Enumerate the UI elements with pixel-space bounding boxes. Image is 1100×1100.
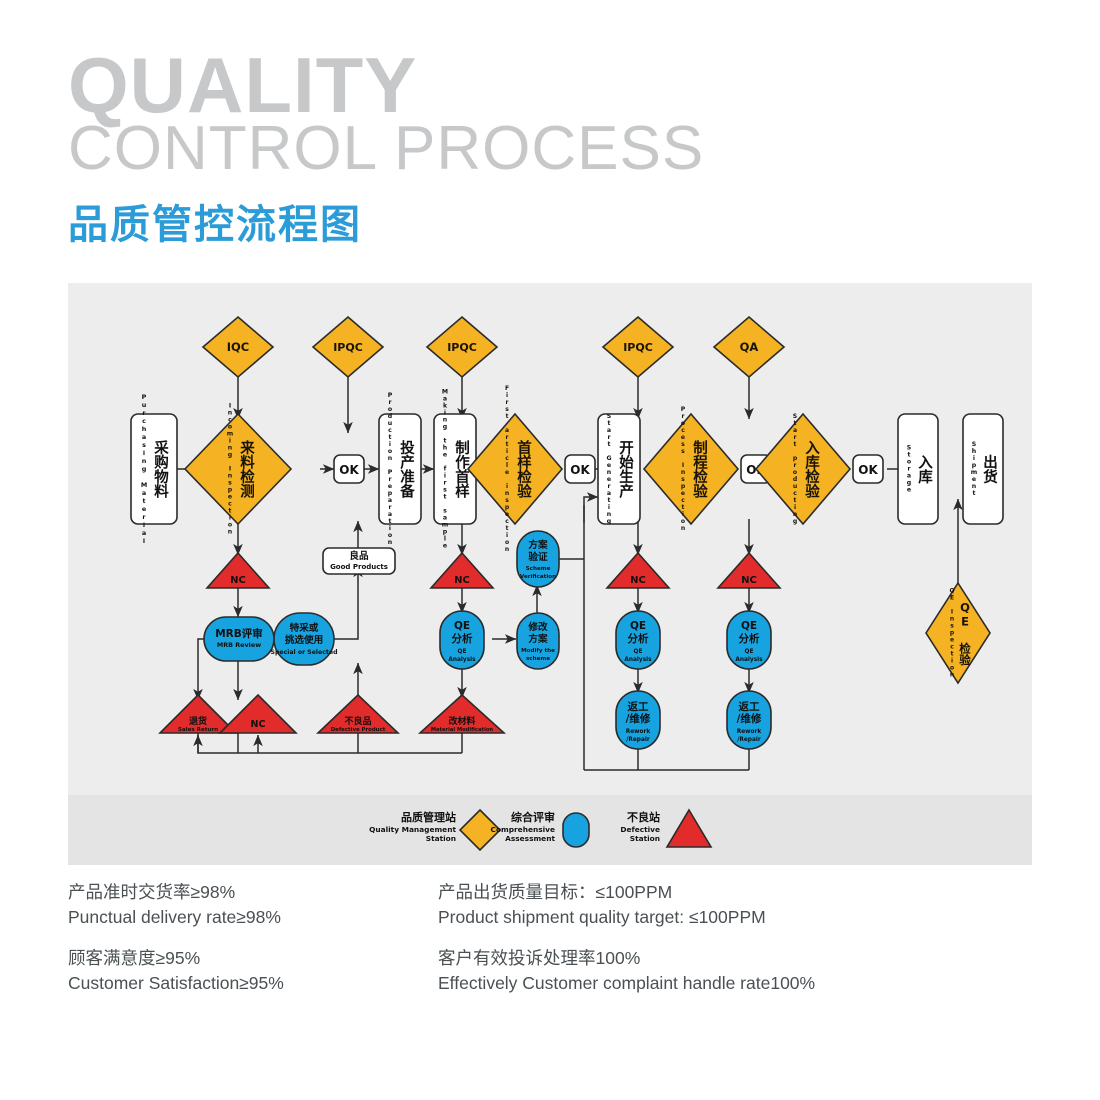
node-sales-return-en: Sales Return — [178, 727, 218, 733]
page-title: QUALITY — [68, 48, 704, 122]
node-qe-analysis-1-cn: 分析 — [452, 632, 473, 645]
node-rework-repair-2[interactable]: 返工 /维修 Rework /Repair — [727, 691, 771, 749]
node-first-article-inspection-en: First article inspection — [504, 385, 511, 553]
node-shipment-cn: 出货 — [981, 453, 997, 485]
legend-triangle-icon — [667, 810, 711, 847]
node-rework-repair-1-cn-2: /维修 — [626, 712, 651, 725]
goal-complaint-handling: 客户有效投诉处理率100% Effectively Customer compl… — [438, 946, 815, 997]
goal-punctual-delivery: 产品准时交货率≥98% Punctual delivery rate≥98% — [68, 880, 281, 931]
station-ipqc-1[interactable]: IPQC — [313, 317, 383, 377]
goal-punctual-delivery-cn: 产品准时交货率≥98% — [68, 880, 281, 905]
node-special-or-selected-cn-1: 特采或 — [290, 622, 319, 634]
node-qe-analysis-1[interactable]: QE 分析 QE Analysis — [440, 611, 484, 669]
node-qe-analysis-1-en-2: Analysis — [448, 657, 476, 663]
node-nc-warehouse-label: NC — [741, 575, 757, 586]
poster-root: QUALITY CONTROL PROCESS 品质管控流程图 — [0, 0, 1100, 1100]
node-storage[interactable]: 入库 Storage — [898, 414, 938, 524]
goal-customer-satisfaction: 顾客满意度≥95% Customer Satisfaction≥95% — [68, 946, 284, 997]
node-modify-the-scheme[interactable]: 修改 方案 Modify the scheme — [517, 613, 559, 669]
node-purchasing-material[interactable]: 采购物料 Purchasing Material — [131, 393, 177, 545]
node-scheme-verification[interactable]: 方案 验证 Scheme Verification — [517, 531, 559, 587]
node-rework-repair-1-cn-1: 返工 — [628, 700, 649, 713]
node-rework-repair-1-en-2: /Repair — [626, 737, 650, 743]
node-mrb-review-en: MRB Review — [217, 641, 261, 649]
node-purchasing-material-en: Purchasing Material — [140, 393, 148, 545]
node-defective-product[interactable]: 不良品 Defective Product — [318, 695, 398, 733]
station-iqc[interactable]: IQC — [203, 317, 273, 377]
node-good-products-cn: 良品 — [349, 550, 369, 562]
node-defective-product-cn: 不良品 — [344, 715, 371, 727]
node-special-or-selected[interactable]: 特采或 挑选使用 Special or Selected — [271, 613, 338, 665]
node-qe-analysis-1-en-1: QE — [458, 649, 467, 655]
node-good-products-en: Good Products — [330, 563, 388, 571]
node-mrb-review-cn: MRB评审 — [215, 627, 263, 640]
node-storage-en: Storage — [906, 445, 913, 494]
legend-comprehensive-assessment-en-1: Comprehensive — [491, 825, 555, 834]
node-qe-analysis-3-title: QE — [741, 620, 757, 632]
node-special-or-selected-cn-2: 挑选使用 — [285, 634, 323, 646]
poster-header: QUALITY CONTROL PROCESS 品质管控流程图 — [68, 48, 704, 250]
node-scheme-verification-cn-2: 验证 — [528, 551, 548, 563]
legend-quality-management-station-en-1: Quality Management — [369, 825, 456, 834]
node-ok-2[interactable]: OK — [565, 455, 595, 483]
node-process-inspection-cn: 制程检验 — [691, 439, 707, 500]
station-qa[interactable]: QA — [714, 317, 784, 377]
node-start-generating[interactable]: 开始生产 Start Generating — [598, 413, 640, 525]
node-purchasing-material-cn: 采购物料 — [152, 439, 169, 500]
node-qe-analysis-2-en-2: Analysis — [624, 657, 652, 663]
node-incoming-inspection-cn: 来料检测 — [238, 439, 255, 500]
node-scheme-verification-en-1: Scheme — [526, 566, 551, 572]
node-nc-warehouse[interactable]: NC — [718, 553, 780, 588]
node-special-or-selected-en: Special or Selected — [271, 649, 338, 656]
node-qe-analysis-2-cn: 分析 — [628, 632, 649, 645]
node-material-modification[interactable]: 改材料 Material Modification — [420, 695, 504, 733]
legend-quality-management-station-en-2: Station — [426, 834, 456, 843]
node-warehouse-inspection-cn: 入库检验 — [803, 440, 819, 500]
legend-defective-station-en-2: Station — [630, 834, 660, 843]
legend-item-quality-management-station: 品质管理站 Quality Management Station — [369, 810, 500, 850]
node-nc-mrb-label: NC — [251, 719, 266, 730]
station-ipqc-2[interactable]: IPQC — [427, 317, 497, 377]
legend-item-comprehensive-assessment: 综合评审 Comprehensive Assessment — [491, 810, 589, 847]
legend-defective-station-cn: 不良站 — [627, 810, 660, 824]
node-first-article-inspection[interactable]: 首样检验 First article inspection — [468, 385, 562, 553]
node-incoming-inspection-en: Incoming Inspection — [227, 403, 234, 536]
node-sales-return-cn: 退货 — [189, 715, 207, 727]
node-good-products[interactable]: 良品 Good Products — [323, 548, 395, 574]
station-ipqc-3-label: IPQC — [623, 341, 653, 354]
node-production-preparation-en: Production Preparation — [387, 392, 394, 546]
node-rework-repair-1[interactable]: 返工 /维修 Rework /Repair — [616, 691, 660, 749]
node-mrb-review[interactable]: MRB评审 MRB Review — [204, 617, 274, 661]
node-ok-4-label: OK — [858, 463, 878, 477]
node-nc-process[interactable]: NC — [607, 553, 669, 588]
node-modify-the-scheme-cn-1: 修改 — [527, 621, 548, 633]
goal-complaint-handling-cn: 客户有效投诉处理率100% — [438, 946, 815, 971]
node-start-generating-en: Start Generating — [606, 413, 613, 525]
node-nc-process-label: NC — [630, 575, 646, 586]
flowchart-panel: IQC IPQC IPQC IPQC QA 采购物料 — [68, 283, 1032, 795]
goal-shipment-quality-cn: 产品出货质量目标：≤100PPM — [438, 880, 766, 905]
node-nc-mrb[interactable]: NC — [220, 695, 296, 733]
legend-comprehensive-assessment-en-2: Assessment — [505, 834, 555, 843]
node-ok-2-label: OK — [570, 463, 590, 477]
node-qe-analysis-3-en-1: QE — [745, 649, 754, 655]
node-material-modification-en: Material Modification — [431, 727, 494, 733]
node-modify-the-scheme-cn-2: 方案 — [528, 633, 548, 645]
node-production-preparation[interactable]: 投产准备 Production Preparation — [379, 392, 421, 546]
node-first-article-inspection-cn: 首样检验 — [515, 439, 531, 500]
node-qe-analysis-3-cn: 分析 — [739, 632, 760, 645]
legend-defective-station-en-1: Defective — [620, 825, 660, 834]
legend-svg: 品质管理站 Quality Management Station 综合评审 Co… — [68, 795, 1032, 865]
node-start-generating-cn: 开始生产 — [617, 440, 633, 500]
station-iqc-label: IQC — [227, 340, 250, 354]
node-warehouse-inspection-en: Start producting — [792, 413, 799, 525]
goal-customer-satisfaction-en: Customer Satisfaction≥95% — [68, 971, 284, 996]
legend-oval-icon — [563, 813, 589, 847]
node-scheme-verification-en-2: Verification — [520, 574, 556, 580]
station-qa-label: QA — [740, 340, 759, 354]
flowchart-svg: IQC IPQC IPQC IPQC QA 采购物料 — [68, 283, 1032, 795]
node-qe-analysis-1-title: QE — [454, 620, 470, 632]
node-process-inspection-en: Process Inspection — [680, 406, 687, 532]
node-nc-incoming[interactable]: NC — [207, 553, 269, 588]
node-material-modification-cn: 改材料 — [448, 715, 475, 727]
node-nc-firstart-label: NC — [454, 575, 470, 586]
node-ok-4[interactable]: OK — [853, 455, 883, 483]
node-nc-incoming-label: NC — [230, 575, 246, 586]
node-qe-inspection-cn: QE 检验 — [958, 601, 972, 667]
node-modify-the-scheme-en-1: Modify the — [521, 648, 555, 654]
node-qe-analysis-2-en-1: QE — [634, 649, 643, 655]
legend-comprehensive-assessment-cn: 综合评审 — [511, 810, 555, 824]
node-qe-inspection-en: QE Inspection — [949, 588, 956, 679]
node-rework-repair-2-en-1: Rework — [737, 729, 762, 735]
node-scheme-verification-cn-1: 方案 — [528, 539, 548, 551]
node-incoming-inspection[interactable]: 来料检测 Incoming Inspection — [185, 403, 291, 536]
node-modify-the-scheme-en-2: scheme — [526, 656, 550, 662]
node-shipment-en: Shipment — [971, 441, 978, 497]
node-rework-repair-1-en-1: Rework — [626, 729, 651, 735]
page-subtitle: CONTROL PROCESS — [68, 118, 704, 180]
station-ipqc-2-label: IPQC — [447, 341, 477, 354]
node-qe-analysis-2-title: QE — [630, 620, 646, 632]
node-qe-analysis-3[interactable]: QE 分析 QE Analysis — [727, 611, 771, 669]
legend-item-defective-station: 不良站 Defective Station — [620, 810, 711, 847]
legend-bar: 品质管理站 Quality Management Station 综合评审 Co… — [68, 795, 1032, 865]
node-qe-analysis-2[interactable]: QE 分析 QE Analysis — [616, 611, 660, 669]
node-warehouse-inspection[interactable]: 入库检验 Start producting — [756, 413, 850, 525]
station-ipqc-1-label: IPQC — [333, 341, 363, 354]
goal-complaint-handling-en: Effectively Customer complaint handle ra… — [438, 971, 815, 996]
node-production-preparation-cn: 投产准备 — [398, 440, 415, 499]
goal-punctual-delivery-en: Punctual delivery rate≥98% — [68, 905, 281, 930]
node-rework-repair-2-en-2: /Repair — [737, 737, 761, 743]
node-ok-1-label: OK — [339, 463, 359, 477]
node-storage-cn: 入库 — [916, 454, 932, 485]
legend-quality-management-station-cn: 品质管理站 — [401, 810, 456, 824]
goal-shipment-quality: 产品出货质量目标：≤100PPM Product shipment qualit… — [438, 880, 766, 931]
node-nc-firstart[interactable]: NC — [431, 553, 493, 588]
node-process-inspection[interactable]: 制程检验 Process Inspection — [644, 406, 738, 532]
node-ok-1[interactable]: OK — [334, 455, 364, 483]
node-making-first-sample-en: Making the first sample — [442, 389, 449, 550]
node-qe-inspection[interactable]: QE 检验 QE Inspection — [926, 583, 990, 683]
node-rework-repair-2-cn-2: /维修 — [737, 712, 762, 725]
node-rework-repair-2-cn-1: 返工 — [739, 700, 760, 713]
goal-shipment-quality-en: Product shipment quality target: ≤100PPM — [438, 905, 766, 930]
station-ipqc-3[interactable]: IPQC — [603, 317, 673, 377]
node-making-first-sample-cn: 制作首样 — [453, 439, 469, 500]
page-title-chinese: 品质管控流程图 — [68, 192, 704, 250]
node-shipment[interactable]: 出货 Shipment — [963, 414, 1003, 524]
goal-customer-satisfaction-cn: 顾客满意度≥95% — [68, 946, 284, 971]
node-defective-product-en: Defective Product — [331, 727, 386, 733]
node-qe-analysis-3-en-2: Analysis — [735, 657, 763, 663]
